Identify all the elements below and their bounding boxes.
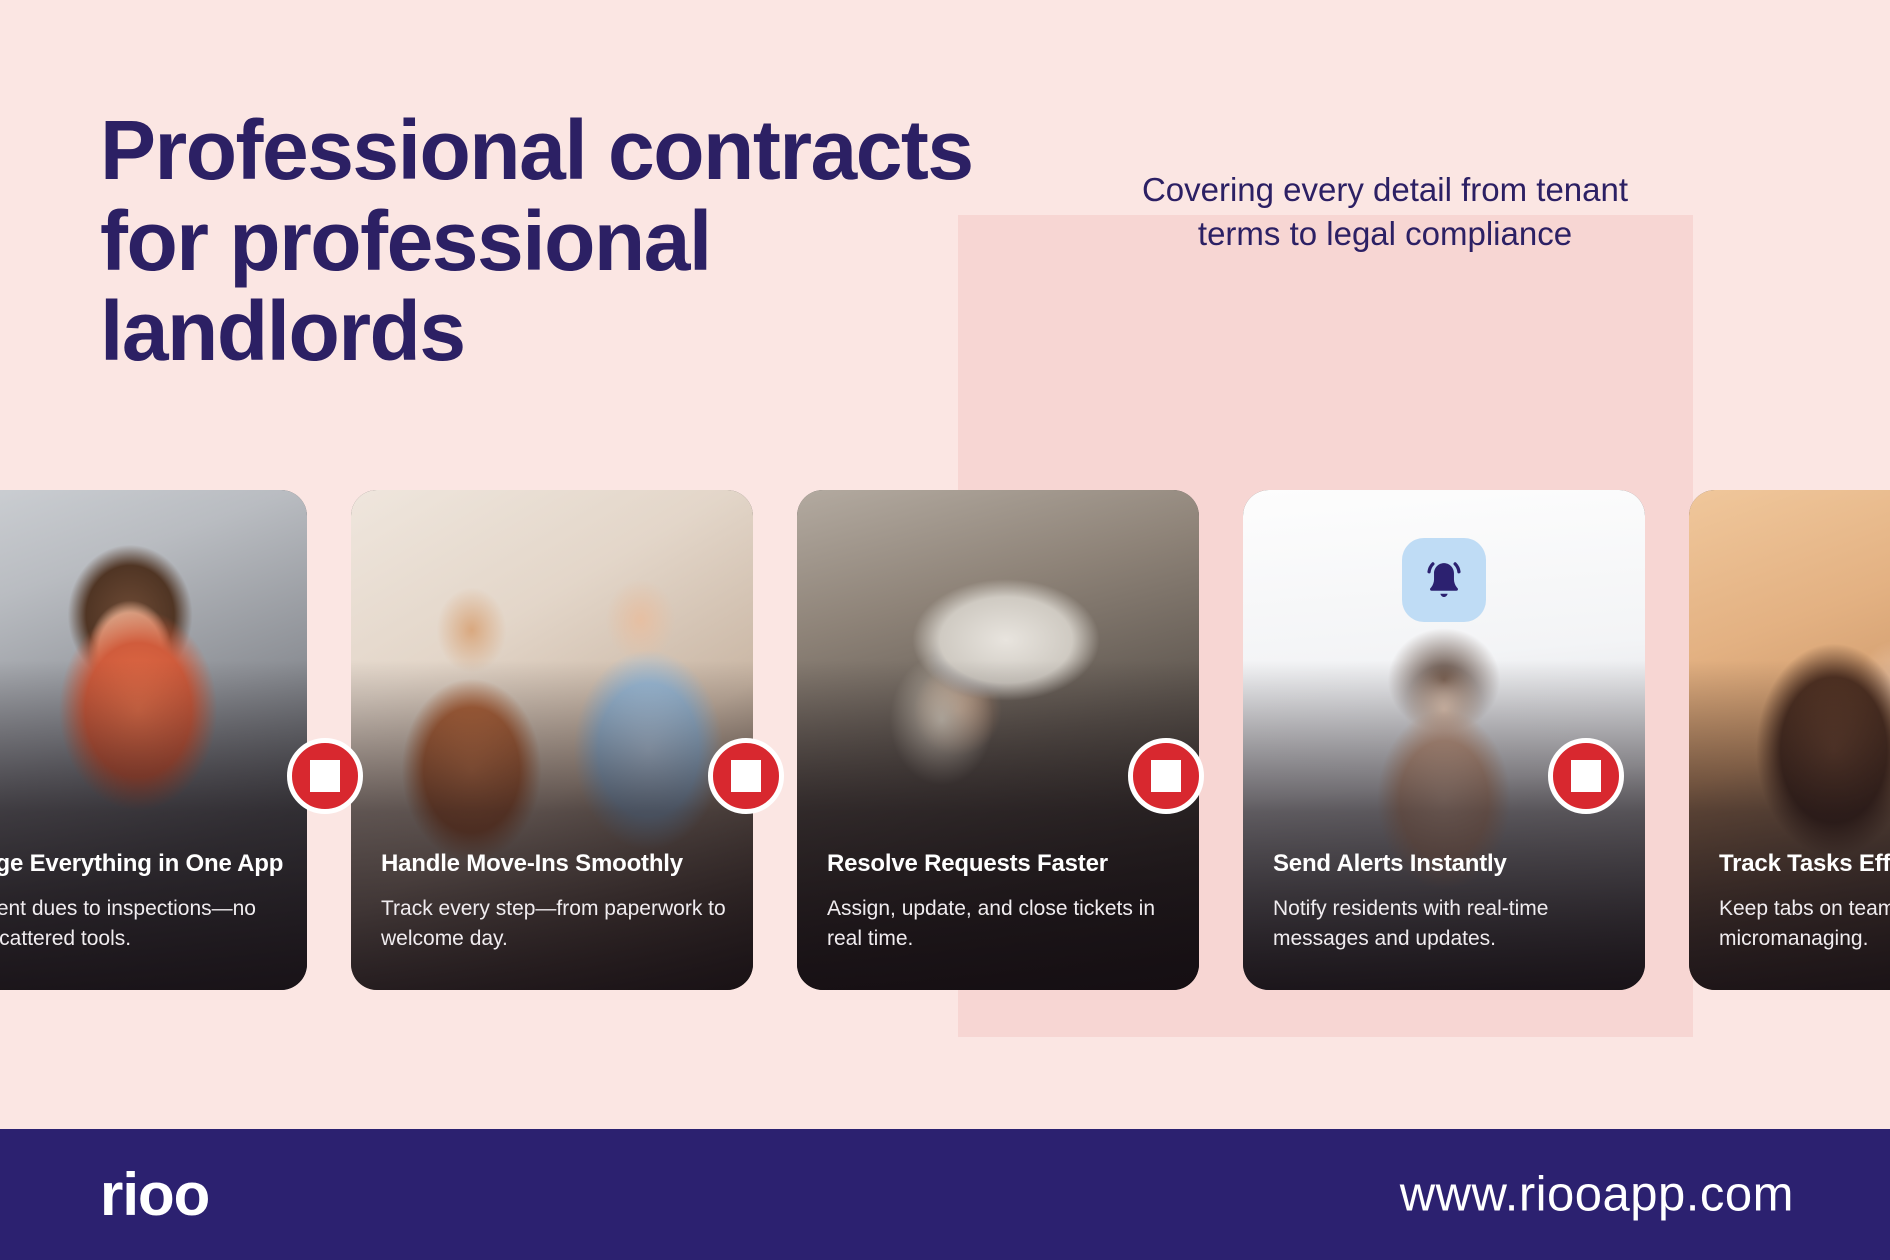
feature-card-row: Manage Everything in One App From rent d… [0,490,1890,990]
page-title: Professional contracts for professional … [100,105,1130,377]
card-4-description: Notify residents with real-time messages… [1273,894,1619,954]
card-3-text: Resolve Requests Faster Assign, update, … [827,850,1173,954]
brand-logo: rioo [100,1165,209,1225]
card-3-title: Resolve Requests Faster [827,850,1173,878]
stop-square-glyph [1571,760,1601,792]
card-2-description: Track every step—from paperwork to welco… [381,894,727,954]
card-1-title: Manage Everything in One App [0,850,281,878]
broken-image-stop-icon[interactable] [1128,738,1204,814]
bell-icon [1402,538,1486,622]
card-1-description: From rent dues to inspections—no more sc… [0,894,281,954]
card-5-description: Keep tabs on team progress without micro… [1719,894,1890,954]
card-4-title: Send Alerts Instantly [1273,850,1619,878]
website-url[interactable]: www.riooapp.com [1400,1170,1794,1219]
headline-line-2: for professional [100,196,1130,287]
footer-bar: rioo www.riooapp.com [0,1129,1890,1260]
broken-image-stop-icon[interactable] [708,738,784,814]
card-5-text: Track Tasks Effortlessly Keep tabs on te… [1719,850,1890,954]
card-5-title: Track Tasks Effortlessly [1719,850,1890,878]
card-2-text: Handle Move-Ins Smoothly Track every ste… [381,850,727,954]
feature-card-5[interactable]: Track Tasks Effortlessly Keep tabs on te… [1689,490,1890,990]
headline-line-1: Professional contracts [100,105,1130,196]
stop-square-glyph [731,760,761,792]
hero-subtitle: Covering every detail from tenant terms … [1100,168,1670,255]
feature-card-3[interactable]: Resolve Requests Faster Assign, update, … [797,490,1199,990]
slide-canvas: Professional contracts for professional … [0,0,1890,1260]
stop-square-glyph [310,760,340,792]
stop-square-glyph [1151,760,1181,792]
card-4-text: Send Alerts Instantly Notify residents w… [1273,850,1619,954]
feature-card-1[interactable]: Manage Everything in One App From rent d… [0,490,307,990]
broken-image-stop-icon[interactable] [1548,738,1624,814]
headline-line-3: landlords [100,286,1130,377]
card-2-title: Handle Move-Ins Smoothly [381,850,727,878]
feature-card-2[interactable]: Handle Move-Ins Smoothly Track every ste… [351,490,753,990]
card-3-description: Assign, update, and close tickets in rea… [827,894,1173,954]
card-1-text: Manage Everything in One App From rent d… [0,850,281,954]
broken-image-stop-icon[interactable] [287,738,363,814]
